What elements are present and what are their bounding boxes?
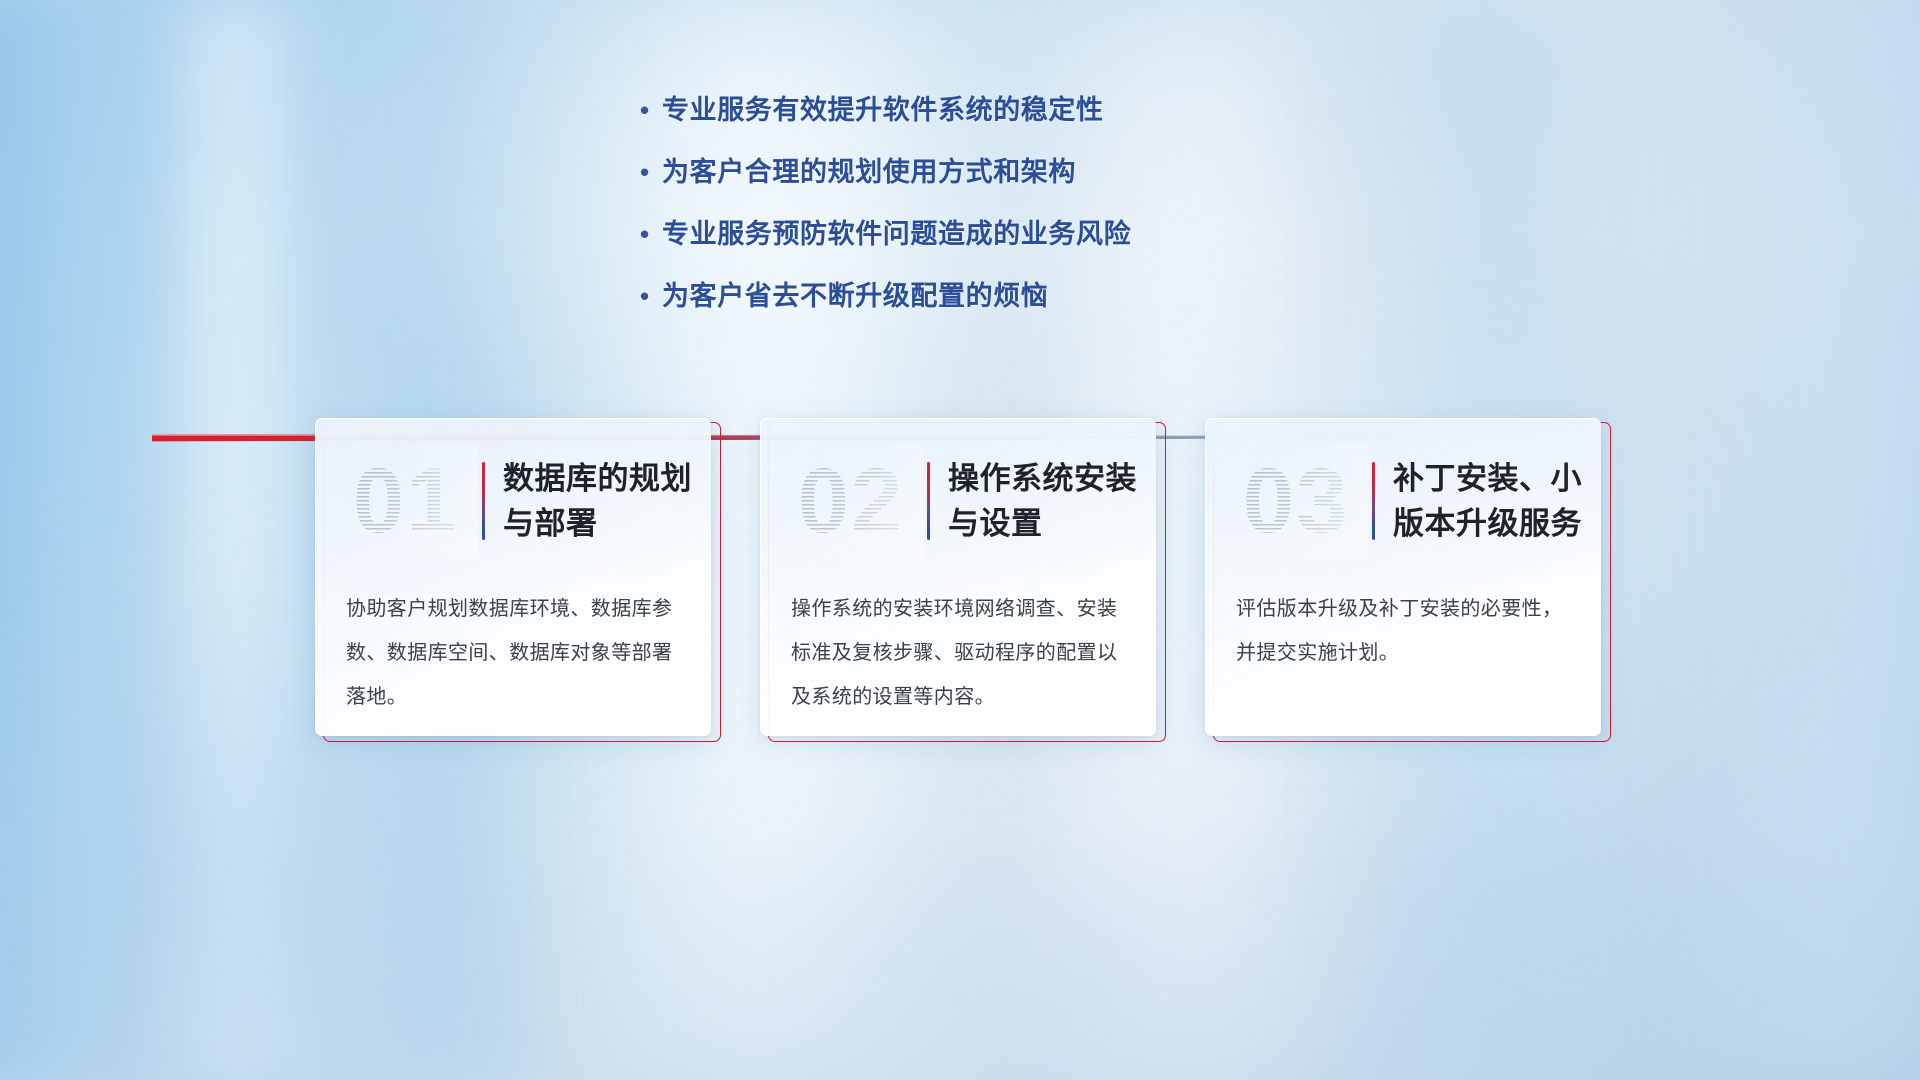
card-description: 评估版本升级及补丁安装的必要性，并提交实施计划。 [1236,587,1575,675]
card-surface: 01 数据库的规划与部署 协助客户规划数据库环境、数据库参数、数据库空间、数据库… [315,418,711,736]
service-card[interactable]: 02 操作系统安装与设置 操作系统的安装环境网络调查、安装标准及复核步骤、驱动程… [760,418,1160,740]
card-header: 03 补丁安装、小版本升级服务 [1206,441,1601,561]
bullet-marker-icon: • [640,272,662,320]
card-title: 数据库的规划与部署 [503,456,711,546]
bullet-marker-icon: • [640,210,662,258]
bullet-marker-icon: • [640,148,662,196]
card-row: 01 数据库的规划与部署 协助客户规划数据库环境、数据库参数、数据库空间、数据库… [0,418,1920,758]
bullet-item: • 专业服务预防软件问题造成的业务风险 [640,210,1280,258]
card-divider-bar [927,462,930,540]
card-description: 操作系统的安装环境网络调查、安装标准及复核步骤、驱动程序的配置以及系统的设置等内… [791,587,1130,719]
service-card[interactable]: 03 补丁安装、小版本升级服务 评估版本升级及补丁安装的必要性，并提交实施计划。 [1205,418,1605,740]
card-title: 补丁安装、小版本升级服务 [1393,456,1601,546]
service-card[interactable]: 01 数据库的规划与部署 协助客户规划数据库环境、数据库参数、数据库空间、数据库… [315,418,715,740]
card-description: 协助客户规划数据库环境、数据库参数、数据库空间、数据库对象等部署落地。 [346,587,685,719]
bullet-list: • 专业服务有效提升软件系统的稳定性 • 为客户合理的规划使用方式和架构 • 专… [0,86,1920,334]
bullet-text: 为客户省去不断升级配置的烦恼 [662,272,1280,320]
bullet-item: • 专业服务有效提升软件系统的稳定性 [640,86,1280,134]
card-header: 02 操作系统安装与设置 [761,441,1156,561]
card-number-watermark: 03 [1224,444,1368,558]
card-surface: 02 操作系统安装与设置 操作系统的安装环境网络调查、安装标准及复核步骤、驱动程… [760,418,1156,736]
card-divider-bar [482,462,485,540]
card-surface: 03 补丁安装、小版本升级服务 评估版本升级及补丁安装的必要性，并提交实施计划。 [1205,418,1601,736]
card-header: 01 数据库的规划与部署 [316,441,711,561]
card-number-watermark: 02 [779,444,923,558]
bullet-text: 专业服务预防软件问题造成的业务风险 [662,210,1280,258]
card-number-watermark: 01 [334,444,478,558]
bullet-marker-icon: • [640,86,662,134]
card-divider-bar [1372,462,1375,540]
card-number-text: 02 [779,444,923,558]
card-number-text: 01 [334,444,478,558]
bullet-text: 为客户合理的规划使用方式和架构 [662,148,1280,196]
card-title: 操作系统安装与设置 [948,456,1156,546]
bullet-item: • 为客户合理的规划使用方式和架构 [640,148,1280,196]
bullet-item: • 为客户省去不断升级配置的烦恼 [640,272,1280,320]
card-number-text: 03 [1224,444,1368,558]
bullet-text: 专业服务有效提升软件系统的稳定性 [662,86,1280,134]
